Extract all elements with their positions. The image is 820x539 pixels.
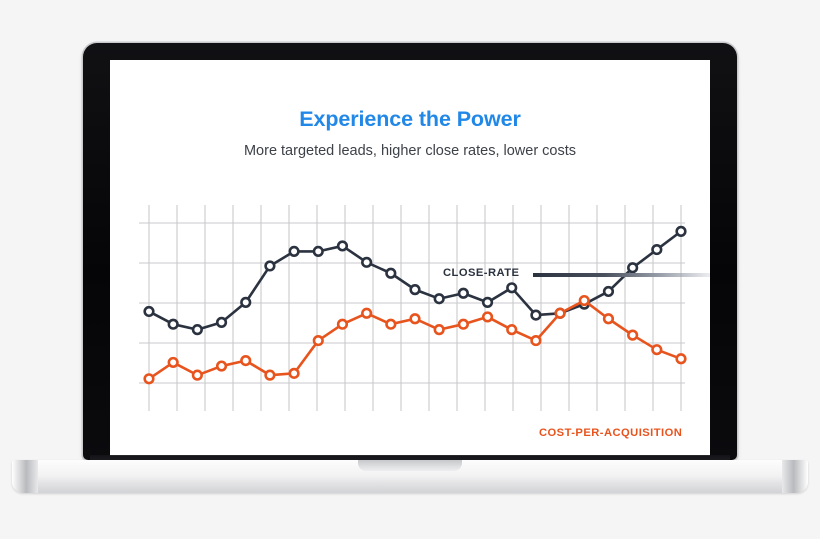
presentation-slide: Experience the Power More targeted leads…: [110, 60, 710, 456]
laptop-base-left-edge: [12, 460, 38, 493]
data-point-marker: [314, 247, 323, 256]
data-point-marker: [580, 296, 589, 305]
data-point-marker: [653, 345, 662, 354]
data-point-marker: [483, 298, 492, 307]
data-point-marker: [193, 325, 202, 334]
data-point-marker: [362, 309, 371, 318]
data-point-marker: [532, 336, 541, 345]
data-point-marker: [411, 314, 420, 323]
data-point-marker: [507, 325, 516, 334]
page-title: Experience the Power: [110, 107, 710, 132]
legend-label-cost-per-acquisition: COST-PER-ACQUISITION: [539, 427, 682, 439]
data-point-marker: [266, 262, 275, 271]
data-point-marker: [387, 269, 396, 278]
data-point-marker: [604, 314, 613, 323]
laptop-base-notch: [358, 460, 462, 471]
data-point-marker: [338, 320, 347, 329]
data-point-marker: [338, 242, 347, 251]
data-point-marker: [169, 358, 178, 367]
data-point-marker: [217, 362, 226, 371]
data-point-marker: [362, 258, 371, 267]
data-point-marker: [387, 320, 396, 329]
data-point-marker: [193, 371, 202, 380]
data-point-marker: [604, 287, 613, 296]
data-point-marker: [556, 309, 565, 318]
chart-svg: [139, 205, 687, 411]
laptop-base-right-edge: [782, 460, 808, 493]
data-point-marker: [217, 318, 226, 327]
data-point-marker: [266, 371, 275, 380]
data-point-marker: [653, 245, 662, 254]
data-point-marker: [483, 313, 492, 322]
chart-series-2: [145, 296, 686, 383]
data-point-marker: [628, 331, 637, 340]
data-point-marker: [507, 284, 516, 293]
data-point-marker: [290, 247, 299, 256]
data-point-marker: [532, 311, 541, 320]
data-point-marker: [314, 336, 323, 345]
data-point-marker: [435, 325, 444, 334]
data-point-marker: [677, 227, 686, 236]
data-point-marker: [169, 320, 178, 329]
line-chart: CLOSE-RATE COST-PER-ACQUISITION: [139, 205, 687, 411]
data-point-marker: [241, 298, 250, 307]
legend-label-close-rate: CLOSE-RATE: [443, 267, 519, 279]
data-point-marker: [145, 375, 154, 384]
data-point-marker: [290, 369, 299, 378]
data-point-marker: [459, 320, 468, 329]
data-point-marker: [628, 263, 637, 272]
chart-series-layer: [145, 227, 686, 383]
series-line: [149, 301, 681, 379]
page-subtitle: More targeted leads, higher close rates,…: [110, 143, 710, 159]
laptop-mockup: Experience the Power More targeted leads…: [0, 0, 820, 539]
legend-rule-close-rate: [533, 273, 710, 277]
data-point-marker: [677, 354, 686, 363]
data-point-marker: [241, 356, 250, 365]
data-point-marker: [435, 294, 444, 303]
data-point-marker: [459, 289, 468, 298]
data-point-marker: [411, 285, 420, 294]
laptop-screen: Experience the Power More targeted leads…: [110, 60, 710, 456]
data-point-marker: [145, 307, 154, 316]
chart-grid-vertical: [149, 205, 681, 411]
